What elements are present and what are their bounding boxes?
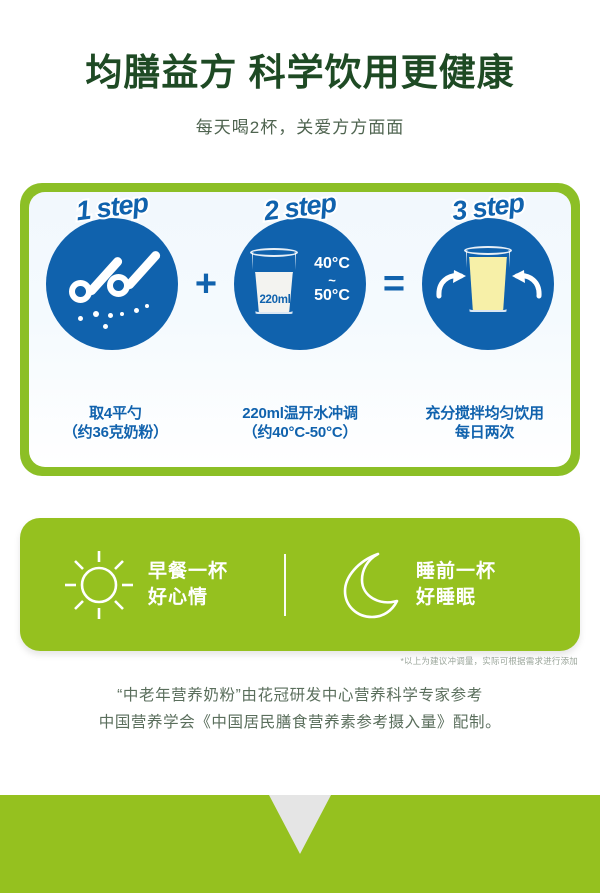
feature-item-night-text: 睡前一杯 好睡眠 xyxy=(416,559,496,610)
step-2: 2 step 220ml 40°C xyxy=(226,218,374,350)
step-2-circle: 220ml 40°C ~ 50°C xyxy=(234,218,366,350)
header: 均膳益方 科学饮用更健康 每天喝2杯，关爱方方面面 xyxy=(0,0,600,138)
preparation-steps-card: 1 step xyxy=(20,183,580,476)
step-captions: 取4平勺 （约36克奶粉） 220ml温开水冲调 （约40°C-50°C） 充分… xyxy=(29,404,571,442)
page-subtitle: 每天喝2杯，关爱方方面面 xyxy=(0,113,600,138)
footnote: “中老年营养奶粉”由花冠研发中心营养科学专家参考 中国营养学会《中国居民膳食营养… xyxy=(0,682,600,736)
step-1: 1 step xyxy=(38,218,186,350)
page-title: 均膳益方 科学饮用更健康 xyxy=(0,52,600,95)
temp-low: 50°C xyxy=(314,287,350,304)
footnote-line-2: 中国营养学会《中国居民膳食营养素参考摄入量》配制。 xyxy=(0,709,600,736)
feature-item-morning-text: 早餐一杯 好心情 xyxy=(148,559,228,610)
step-2-caption: 220ml温开水冲调 （约40°C-50°C） xyxy=(214,404,387,442)
temp-high: 40°C xyxy=(314,255,350,272)
step-1-circle xyxy=(46,218,178,350)
step-3-caption: 充分搅拌均匀饮用 每日两次 xyxy=(398,404,571,442)
step-3: 3 step xyxy=(414,218,562,350)
usage-time-panel: 早餐一杯 好心情 睡前一杯 好睡眠 xyxy=(20,518,580,651)
stir-arrow-right-icon xyxy=(510,270,542,300)
panel-divider xyxy=(284,554,286,616)
step-3-circle xyxy=(422,218,554,350)
steps-card-inner: 1 step xyxy=(29,192,571,467)
temp-tilde: ~ xyxy=(304,274,360,288)
disclaimer-text: *以上为建议冲调量，实际可根据需求进行添加 xyxy=(400,655,578,667)
feature-item-night: 睡前一杯 好睡眠 xyxy=(330,549,496,621)
step-1-caption: 取4平勺 （约36克奶粉） xyxy=(29,404,202,442)
triangle-down-icon xyxy=(269,795,331,854)
two-measuring-spoons-with-powder-icon xyxy=(46,218,178,350)
feature-item-morning: 早餐一杯 好心情 xyxy=(62,549,228,621)
operator-equals: = xyxy=(374,265,414,303)
glass-of-water-icon: 220ml xyxy=(251,252,297,314)
steps-row: 1 step xyxy=(29,218,571,350)
sun-icon xyxy=(62,549,136,621)
temperature-range: 40°C ~ 50°C xyxy=(304,256,360,305)
glass-of-milk-with-stir-arrows-icon xyxy=(465,250,511,312)
moon-icon xyxy=(330,549,404,621)
product-instruction-infographic: 均膳益方 科学饮用更健康 每天喝2杯，关爱方方面面 1 step xyxy=(0,0,600,893)
stir-arrow-left-icon xyxy=(436,270,468,300)
operator-plus: + xyxy=(186,265,226,303)
footnote-line-1: “中老年营养奶粉”由花冠研发中心营养科学专家参考 xyxy=(0,682,600,709)
volume-label: 220ml xyxy=(252,294,298,306)
